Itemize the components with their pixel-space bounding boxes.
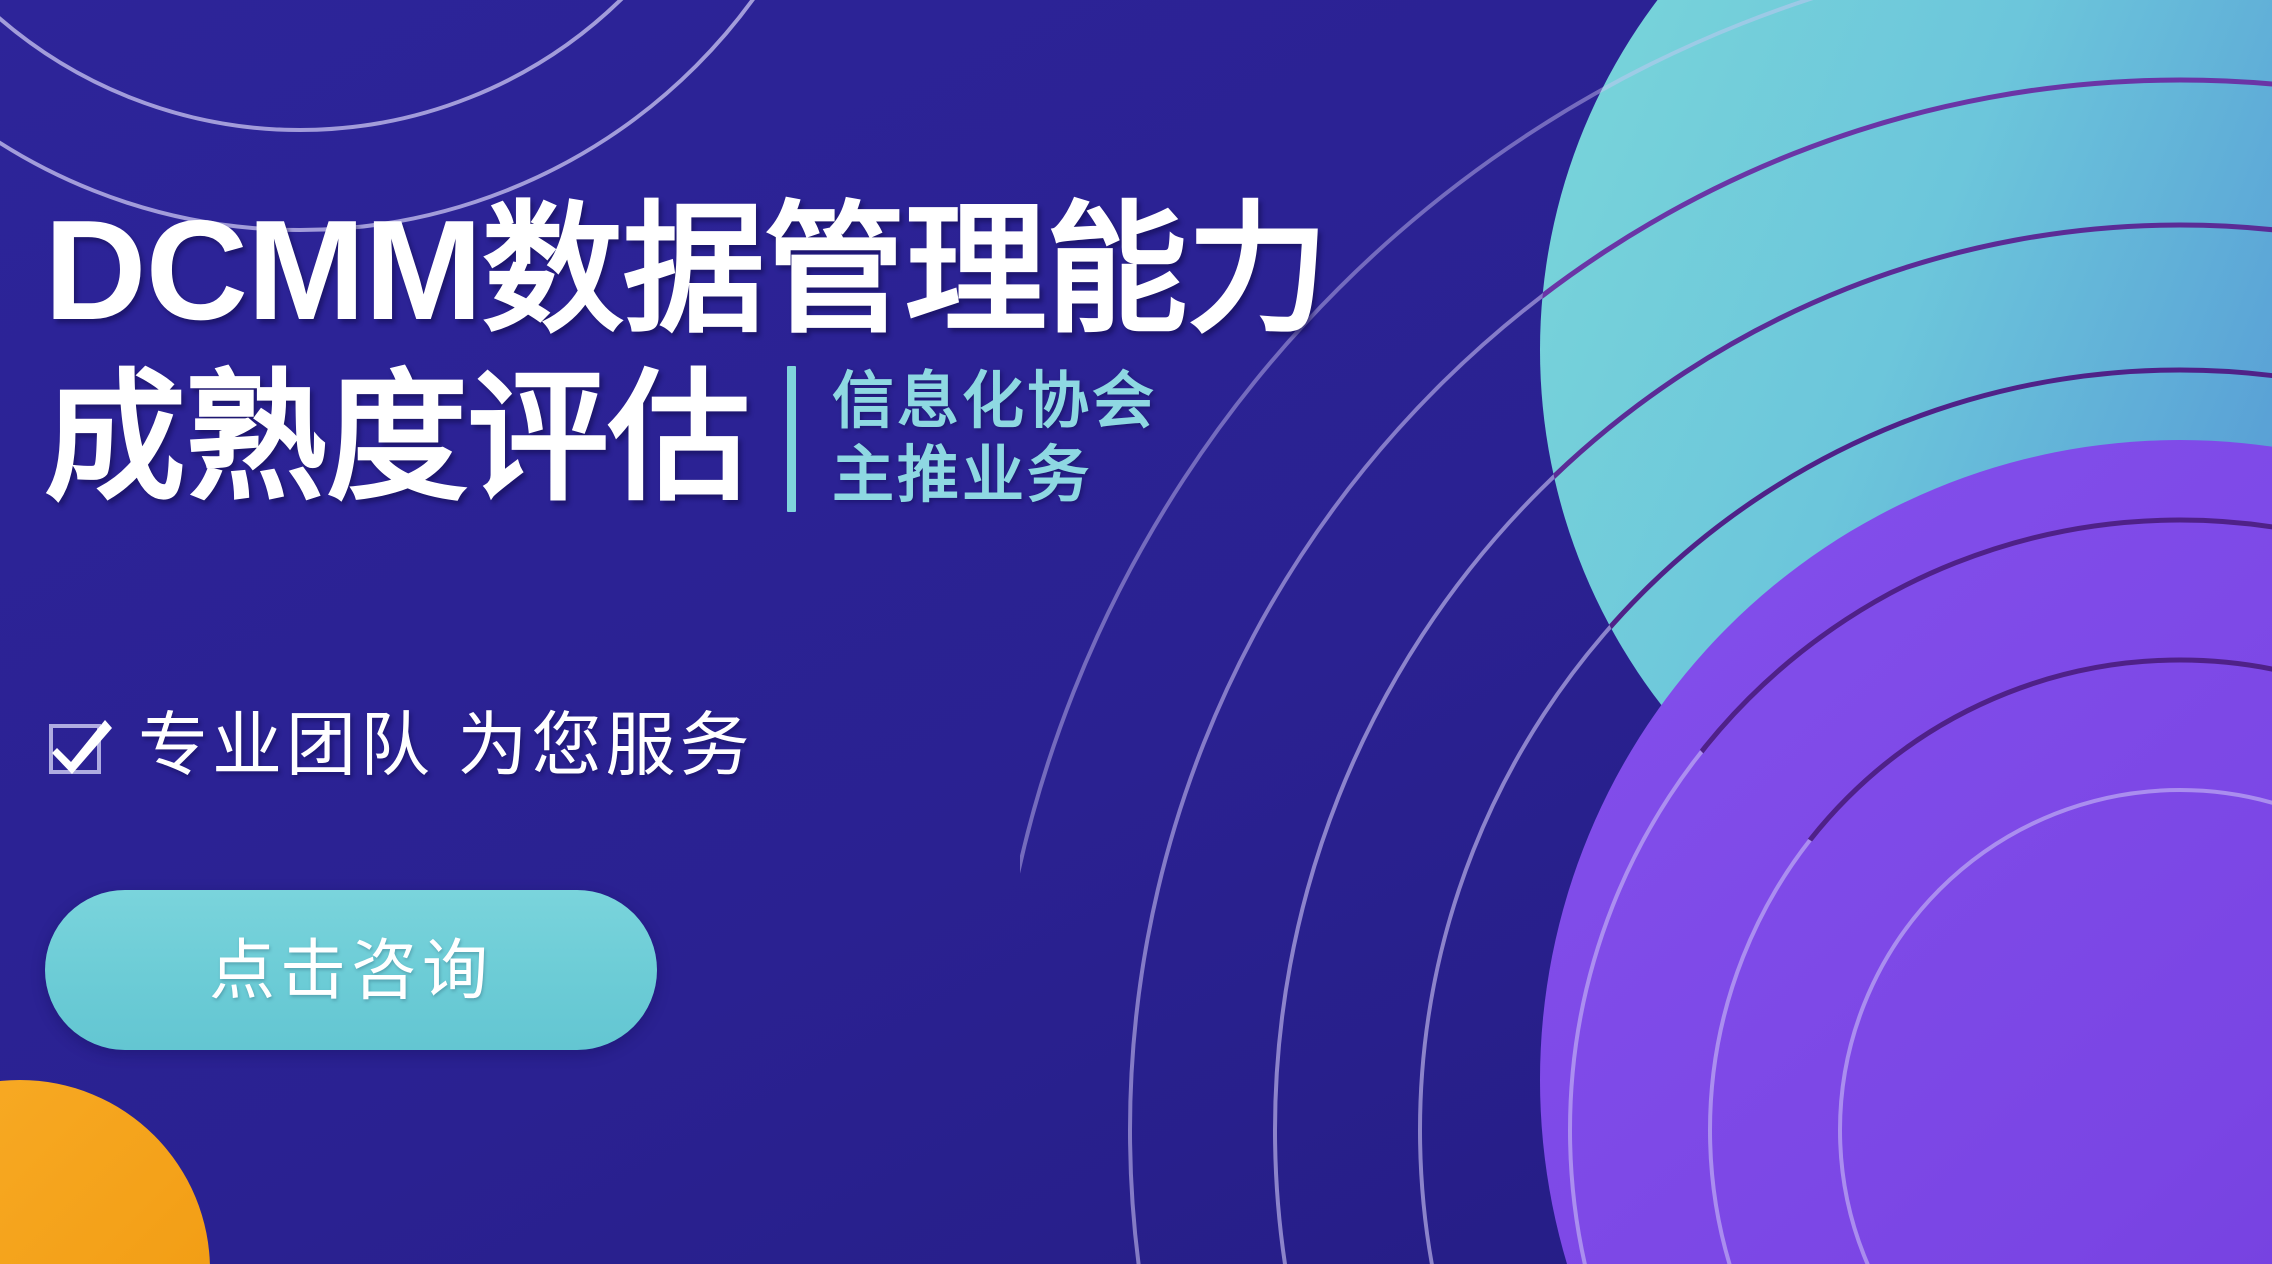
tagline-row: 专业团队 为您服务: [46, 706, 753, 784]
sidenote-line-2: 主推业务: [832, 439, 1157, 513]
tagline-text: 专业团队 为您服务: [138, 706, 753, 784]
consult-cta-label: 点击咨询: [209, 935, 493, 1005]
consult-cta-button[interactable]: 点击咨询: [45, 890, 657, 1050]
vertical-divider-bar: [787, 366, 796, 512]
promo-banner: DCMM数据管理能力 成熟度评估 信息化协会 主推业务 专业团队 为您服务 点击: [0, 0, 2272, 1264]
headline-block: DCMM数据管理能力 成熟度评估 信息化协会 主推业务: [44, 196, 1328, 514]
headline-line-2: 成熟度评估: [44, 364, 749, 514]
sidenote-line-1: 信息化协会: [832, 365, 1157, 439]
headline-line-1: DCMM数据管理能力: [44, 196, 1328, 346]
sidenote-block: 信息化协会 主推业务: [832, 365, 1157, 513]
checkbox-checked-icon: [46, 712, 112, 778]
headline-row-2: 成熟度评估 信息化协会 主推业务: [44, 364, 1328, 514]
